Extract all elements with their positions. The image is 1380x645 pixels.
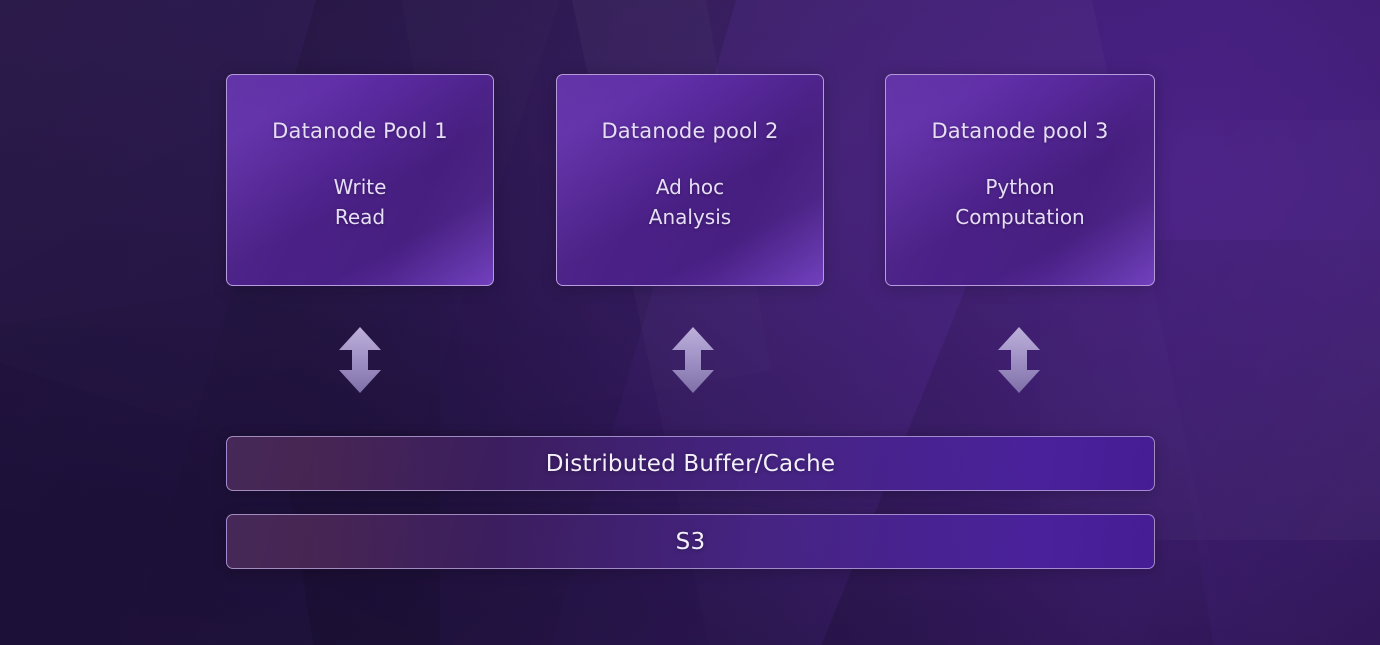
datanode-pool-3-title: Datanode pool 3 <box>931 119 1108 143</box>
pool-2-line-1: Ad hoc <box>649 172 731 202</box>
pool-3-line-1: Python <box>955 172 1084 202</box>
distributed-buffer-cache-label: Distributed Buffer/Cache <box>546 451 835 477</box>
s3-bar[interactable]: S3 <box>226 514 1155 569</box>
datanode-pool-2-details: Ad hoc Analysis <box>649 172 731 232</box>
bidirectional-arrow-icon <box>997 326 1041 394</box>
bidirectional-arrow-icon <box>338 326 382 394</box>
bidirectional-arrow-icon <box>671 326 715 394</box>
pool-1-line-1: Write <box>334 172 387 202</box>
pool-1-line-2: Read <box>334 202 387 232</box>
diagram-canvas: Datanode Pool 1 Write Read Datanode pool… <box>0 0 1380 645</box>
datanode-pool-1-details: Write Read <box>334 172 387 232</box>
pool-3-line-2: Computation <box>955 202 1084 232</box>
datanode-pool-1-box[interactable]: Datanode Pool 1 Write Read <box>226 74 494 286</box>
s3-label: S3 <box>676 529 706 555</box>
datanode-pool-1-title: Datanode Pool 1 <box>272 119 448 143</box>
datanode-pool-3-details: Python Computation <box>955 172 1084 232</box>
datanode-pool-2-title: Datanode pool 2 <box>601 119 778 143</box>
distributed-buffer-cache-bar[interactable]: Distributed Buffer/Cache <box>226 436 1155 491</box>
pool-2-line-2: Analysis <box>649 202 731 232</box>
datanode-pool-3-box[interactable]: Datanode pool 3 Python Computation <box>885 74 1155 286</box>
datanode-pool-2-box[interactable]: Datanode pool 2 Ad hoc Analysis <box>556 74 824 286</box>
